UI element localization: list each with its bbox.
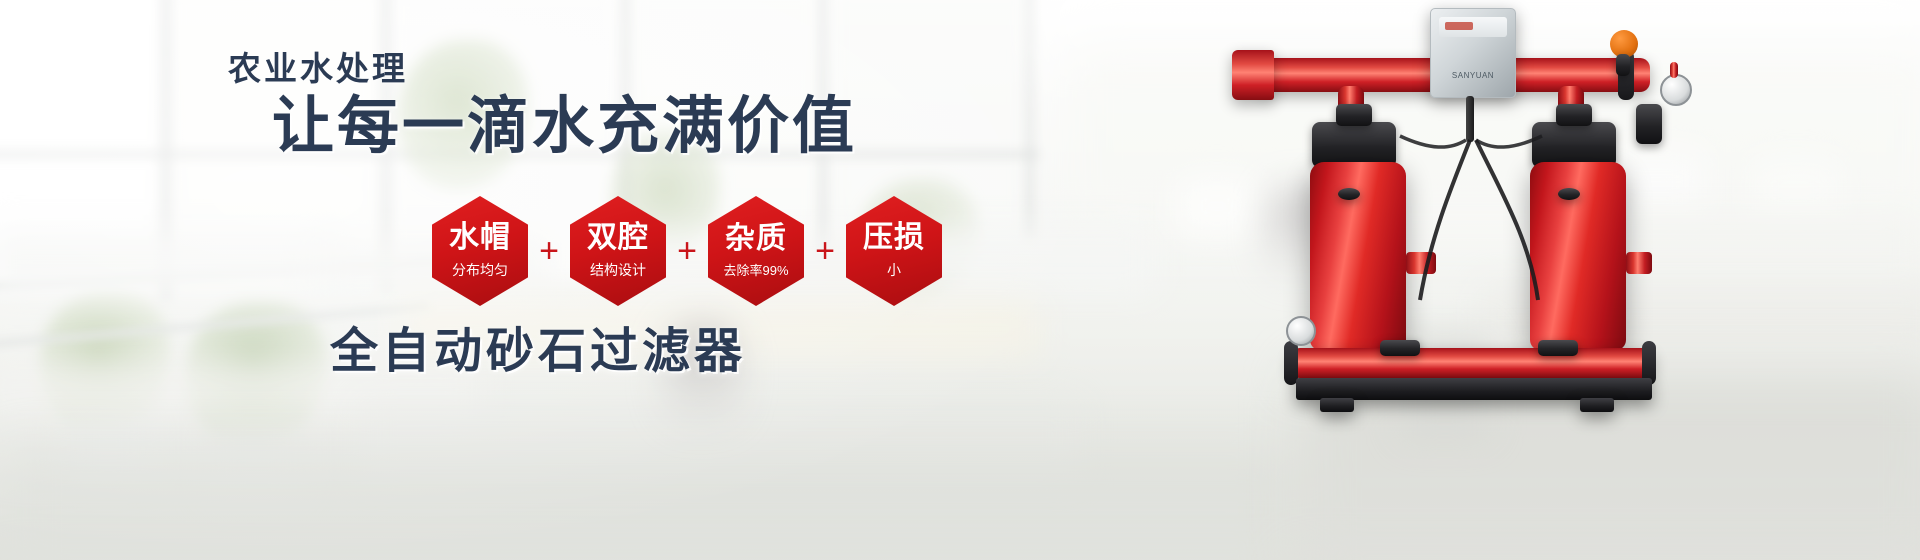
promo-banner: SANYUAN 农业水处理 让每一滴水充满价值 水帽 分布均匀 + — [0, 0, 1920, 560]
product-pressure-gauge — [1286, 316, 1316, 346]
product-cables — [1280, 0, 1920, 560]
feature-badge-subtitle: 结构设计 — [590, 260, 646, 280]
feature-badge-title: 压损 — [863, 222, 925, 254]
plus-separator-icon: + — [528, 234, 570, 268]
plus-separator-icon: + — [804, 234, 846, 268]
product-pressure-gauge — [1660, 74, 1692, 106]
feature-badge: 压损 小 — [846, 196, 942, 306]
banner-eyebrow: 农业水处理 — [228, 42, 408, 90]
feature-badge: 双腔 结构设计 — [570, 196, 666, 306]
feature-badge: 水帽 分布均匀 — [432, 196, 528, 306]
feature-badge: 杂质 去除率99% — [708, 196, 804, 306]
product-inlet-bell — [1232, 50, 1274, 100]
banner-tagline: 全自动砂石过滤器 — [330, 328, 746, 376]
product-valve-stem — [1616, 54, 1630, 76]
product-side-valve — [1636, 104, 1662, 144]
feature-badge-title: 杂质 — [725, 223, 787, 255]
feature-badge-subtitle: 分布均匀 — [452, 260, 508, 280]
banner-headline: 让每一滴水充满价值 — [272, 96, 857, 158]
product-sand-gravel-filter: SANYUAN — [1280, 0, 1920, 560]
banner-content: 农业水处理 让每一滴水充满价值 水帽 分布均匀 + 双腔 结构设计 + 杂质 去… — [0, 0, 1100, 560]
feature-badge-subtitle: 小 — [887, 260, 901, 280]
feature-badge-subtitle: 去除率99% — [723, 260, 788, 279]
plus-separator-icon: + — [666, 234, 708, 268]
feature-badge-title: 双腔 — [587, 222, 649, 254]
feature-badge-row: 水帽 分布均匀 + 双腔 结构设计 + 杂质 去除率99% + 压损 小 — [432, 196, 942, 306]
feature-badge-title: 水帽 — [449, 222, 511, 254]
product-gauge-stem — [1670, 62, 1678, 78]
